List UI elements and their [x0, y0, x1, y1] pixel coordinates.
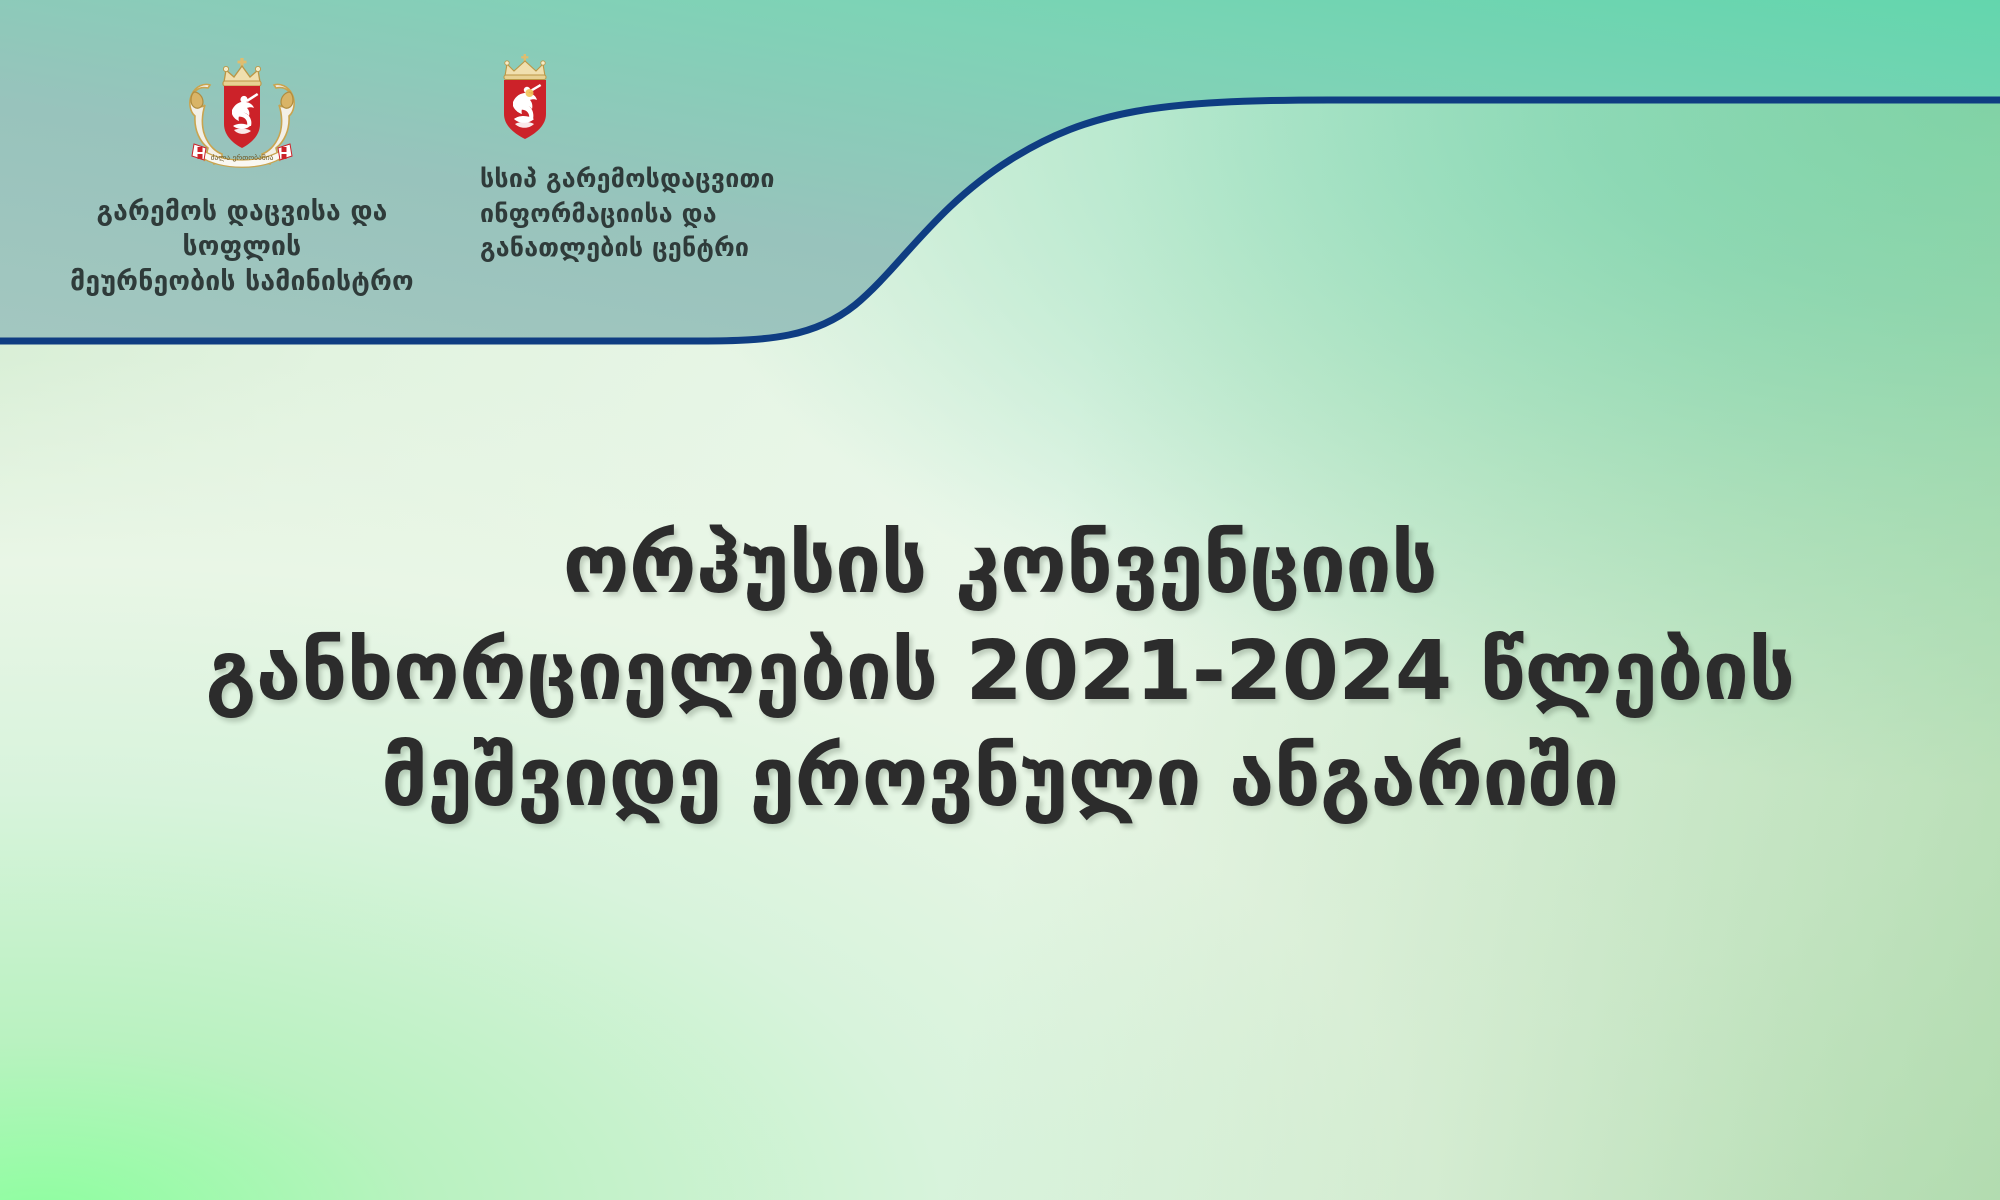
report-cover-slide: ძალა ერთობაშია გარემოს დაცვისა და სოფლის…: [0, 0, 2000, 1200]
title-line-1: ორჰუსის კონვენციის: [60, 512, 1940, 619]
center-name: სსიპ გარემოსდაცვითი ინფორმაციისა და განა…: [480, 162, 775, 266]
crown-icon: [223, 58, 261, 86]
title-line-3: მეშვიდე ეროვნული ანგარიში: [60, 725, 1940, 832]
report-title: ორჰუსის კონვენციის განხორციელების 2021-2…: [0, 512, 2000, 832]
title-line-2: განხორციელების 2021-2024 წლების: [60, 619, 1940, 726]
motto-text: ძალა ერთობაშია: [211, 153, 274, 162]
ministry-name: გარემოს დაცვისა და სოფლის მეურნეობის სამ…: [42, 194, 442, 300]
org-block-center: სსიპ გარემოსდაცვითი ინფორმაციისა და განა…: [480, 52, 800, 266]
georgia-lesser-coat-of-arms-icon: [494, 52, 556, 142]
org-block-ministry: ძალა ერთობაშია გარემოს დაცვისა და სოფლის…: [42, 52, 442, 300]
crown-icon: [504, 54, 546, 80]
georgia-coat-of-arms-icon: ძალა ერთობაშია: [178, 52, 306, 182]
